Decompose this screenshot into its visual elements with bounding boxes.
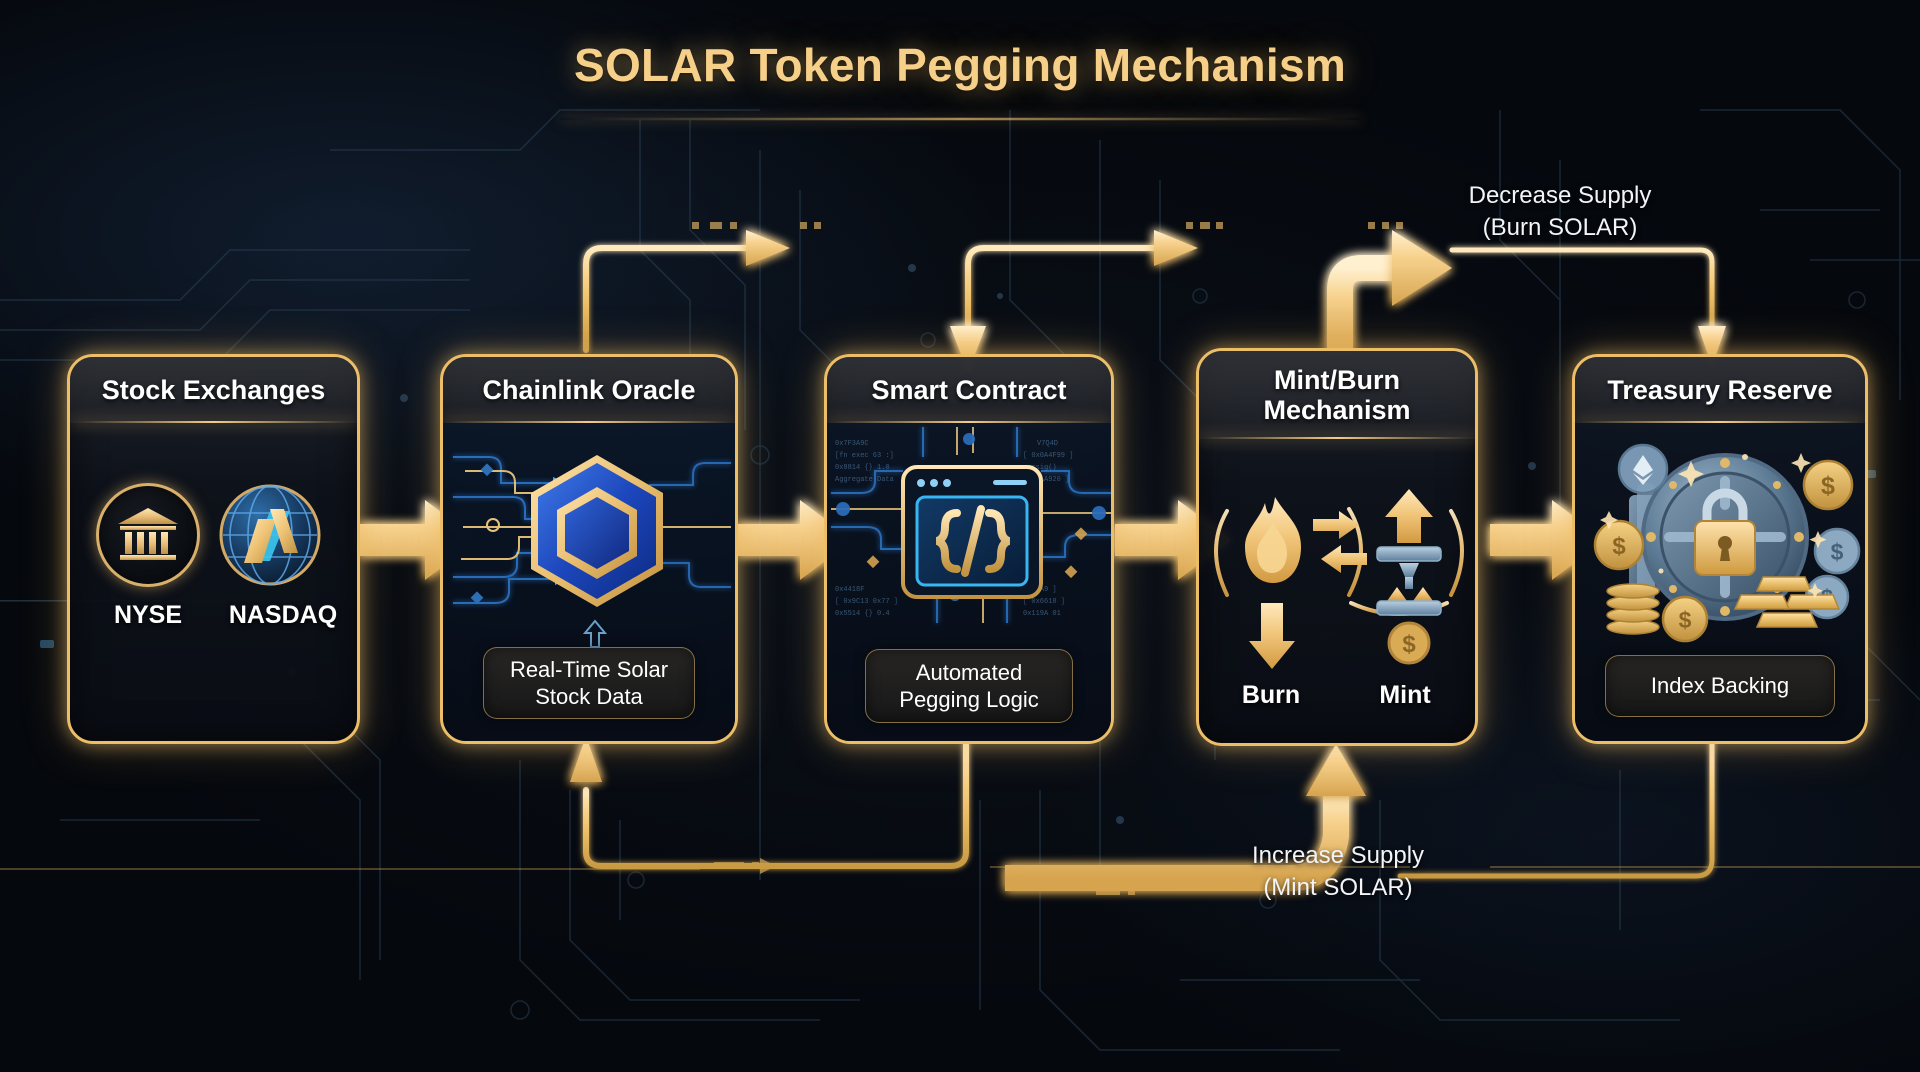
svg-text:[ 0x0A4F99 ]: [ 0x0A4F99 ]	[1023, 452, 1073, 460]
bottom-return-path	[586, 744, 966, 866]
svg-text:0x119A 01: 0x119A 01	[1023, 610, 1061, 618]
card-mint-burn-title: Mint/Burn Mechanism	[1199, 351, 1475, 439]
increase-supply-line-1: Increase Supply	[1178, 840, 1498, 872]
svg-text:0x7F3A9C: 0x7F3A9C	[835, 440, 869, 448]
decrease-supply-label: Decrease Supply (Burn SOLAR)	[1400, 180, 1720, 243]
tag-line-1: Index Backing	[1651, 672, 1789, 700]
decrease-supply-line-1: Decrease Supply	[1400, 180, 1720, 212]
svg-text:V7Q4D: V7Q4D	[1037, 440, 1058, 448]
svg-text:[fn exec 63 :]: [fn exec 63 :]	[835, 452, 894, 460]
svg-text:0x5514 {} 0.4: 0x5514 {} 0.4	[835, 610, 890, 618]
contract-loop-arrowhead	[1154, 230, 1198, 266]
svg-text:$: $	[1831, 539, 1844, 565]
code-braces-icon	[901, 465, 1043, 599]
tag-line-1: Real-Time Solar	[510, 656, 668, 684]
card-stock-exchanges-body: NYSE NASDAQ	[70, 423, 357, 741]
svg-text:$: $	[1821, 472, 1835, 500]
svg-text:$: $	[1402, 631, 1416, 658]
smart-contract-tag: Automated Pegging Logic	[865, 649, 1073, 723]
bank-icon	[96, 483, 200, 587]
card-smart-contract-title: Smart Contract	[827, 357, 1111, 423]
tag-line-2: Pegging Logic	[899, 686, 1038, 714]
increase-supply-label: Increase Supply (Mint SOLAR)	[1178, 840, 1498, 903]
chainlink-oracle-tag: Real-Time Solar Stock Data	[483, 647, 695, 719]
card-treasury-reserve[interactable]: Treasury Reserve	[1572, 354, 1868, 744]
card-stock-exchanges-title: Stock Exchanges	[70, 357, 357, 423]
card-mint-burn-body: $ Burn Mint	[1199, 439, 1475, 743]
decrease-supply-path	[1340, 230, 1726, 366]
bank-icon-glyph	[116, 506, 180, 564]
nasdaq-globe-glyph	[218, 483, 322, 587]
title-underline	[560, 118, 1360, 120]
oracle-to-contract-loop	[586, 248, 752, 350]
svg-text:[ 0x9C13 0x77 ]: [ 0x9C13 0x77 ]	[835, 598, 898, 606]
oracle-loop-arrowhead	[746, 230, 790, 266]
mint-burn-cycle-graphic: $	[1199, 453, 1478, 703]
svg-text:[ 0x6618 ]: [ 0x6618 ]	[1023, 598, 1065, 606]
diagram-canvas: SOLAR Token Pegging Mechanism Stock Exch…	[0, 0, 1920, 1072]
svg-text:0x8814 {} 1.0: 0x8814 {} 1.0	[835, 464, 890, 472]
contract-top-loop	[968, 248, 1160, 350]
card-mint-burn-title-line-1: Mint/Burn	[1274, 365, 1400, 395]
oracle-up-indicator-icon	[583, 619, 607, 649]
card-chainlink-oracle-title: Chainlink Oracle	[443, 357, 735, 423]
card-smart-contract[interactable]: Smart Contract	[824, 354, 1114, 744]
nyse-label: NYSE	[80, 601, 216, 630]
mint-label: Mint	[1339, 681, 1471, 710]
vault-lock-icon: $ $ $	[1575, 423, 1868, 649]
card-treasury-reserve-title: Treasury Reserve	[1575, 357, 1865, 423]
tag-line-2: Stock Data	[535, 683, 643, 711]
svg-text:$: $	[1679, 607, 1692, 633]
card-stock-exchanges[interactable]: Stock Exchanges	[67, 354, 360, 744]
page-title: SOLAR Token Pegging Mechanism	[0, 38, 1920, 92]
decrease-supply-line-2: (Burn SOLAR)	[1400, 212, 1720, 244]
chainlink-hexagon-icon	[523, 451, 671, 613]
svg-text:$: $	[1612, 533, 1626, 560]
svg-text:Aggregate Data: Aggregate Data	[835, 476, 894, 484]
increase-supply-line-2: (Mint SOLAR)	[1178, 872, 1498, 904]
svg-text:0x4418F: 0x4418F	[835, 586, 864, 594]
card-mint-burn-mechanism[interactable]: Mint/Burn Mechanism	[1196, 348, 1478, 746]
treasury-reserve-tag: Index Backing	[1605, 655, 1835, 717]
nasdaq-globe-icon	[218, 483, 322, 587]
nasdaq-label: NASDAQ	[210, 601, 356, 630]
burn-label: Burn	[1205, 681, 1337, 710]
card-chainlink-oracle[interactable]: Chainlink Oracle	[440, 354, 738, 744]
tag-line-1: Automated	[916, 659, 1022, 687]
card-mint-burn-title-line-2: Mechanism	[1263, 395, 1410, 425]
